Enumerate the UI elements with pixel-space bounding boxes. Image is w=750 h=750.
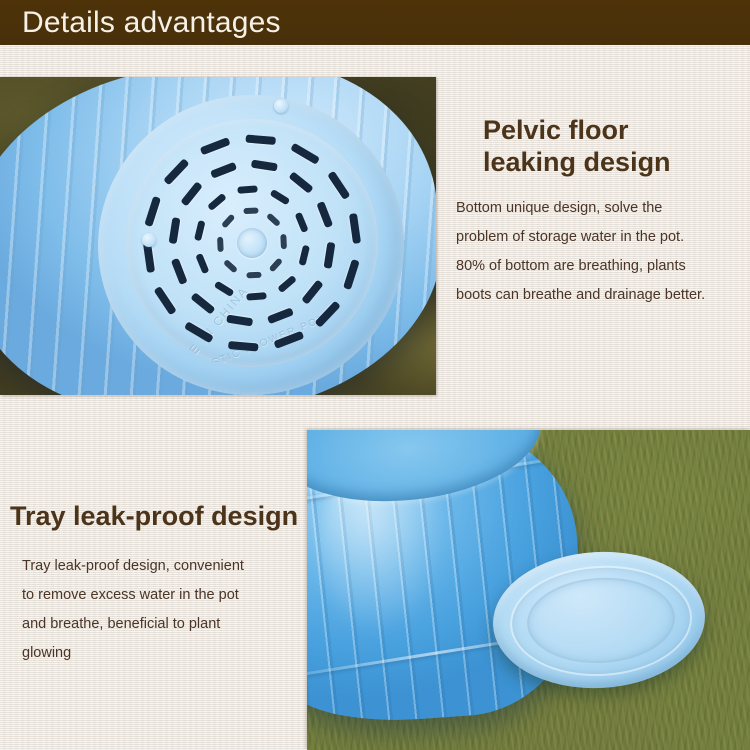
drainage-slot — [314, 301, 340, 328]
drainage-slot — [217, 237, 224, 252]
drainage-slot — [327, 171, 350, 200]
product-detail-page: Details advantages MADE IN CHINA PLASTIC… — [0, 0, 750, 750]
drainage-slot — [323, 241, 335, 268]
drainage-slot — [250, 160, 277, 172]
drainage-slot — [194, 220, 206, 241]
drainage-slot — [195, 253, 209, 274]
drainage-slot — [266, 212, 281, 227]
photo-pot-and-tray — [307, 430, 750, 750]
section-heading-pelvic-floor: Pelvic floor leaking design — [455, 114, 747, 178]
drainage-slot — [288, 171, 313, 194]
drainage-slot — [243, 208, 258, 215]
drainage-slot — [246, 293, 266, 302]
section-body-pelvic-floor: Bottom unique design, solve the problem … — [455, 194, 747, 310]
grate-center-hub — [235, 226, 269, 260]
drainage-slot — [207, 193, 227, 211]
drainage-slot — [163, 158, 189, 185]
photo-pot-drainage-base: MADE IN CHINA PLASTIC FLOWER POT — [0, 77, 436, 395]
drainage-slot — [316, 201, 333, 228]
drainage-slot — [228, 341, 259, 352]
drainage-slot — [213, 281, 234, 297]
header-bar: Details advantages — [0, 0, 750, 45]
drainage-slot — [190, 293, 215, 316]
drainage-slot — [267, 307, 294, 324]
page-title: Details advantages — [22, 4, 281, 42]
drainage-slot — [145, 196, 162, 227]
drainage-slot — [227, 314, 254, 326]
pot-base-nub-top — [274, 99, 288, 113]
drainage-slot — [281, 234, 288, 249]
drainage-slot — [277, 275, 297, 293]
section-text-tray: Tray leak-proof design Tray leak-proof d… — [10, 500, 305, 668]
drainage-slot — [270, 189, 291, 205]
drainage-slot — [223, 259, 238, 274]
section-body-tray: Tray leak-proof design, convenient to re… — [10, 552, 305, 668]
pot-base-nub-left — [142, 233, 156, 247]
drainage-slot — [246, 272, 261, 279]
drainage-slot — [299, 245, 311, 266]
drainage-slot — [274, 331, 305, 349]
drainage-slot — [154, 286, 177, 315]
drainage-slot — [290, 142, 320, 164]
drainage-slot — [210, 162, 237, 179]
drainage-slot — [246, 134, 277, 145]
section-heading-tray: Tray leak-proof design — [10, 500, 305, 532]
drainage-slot — [171, 258, 188, 285]
drainage-slot — [295, 212, 309, 233]
section-text-pelvic-floor: Pelvic floor leaking design Bottom uniqu… — [455, 114, 747, 310]
drainage-slot — [169, 218, 181, 245]
drainage-slot — [184, 321, 214, 343]
drainage-slot — [302, 279, 325, 304]
drainage-slot — [221, 214, 236, 229]
drainage-slot — [238, 185, 258, 194]
drainage-slot — [180, 181, 203, 206]
drainage-slot — [200, 137, 231, 155]
drainage-slot — [349, 213, 361, 244]
drainage-slot — [343, 259, 360, 290]
drainage-slot — [268, 257, 283, 272]
